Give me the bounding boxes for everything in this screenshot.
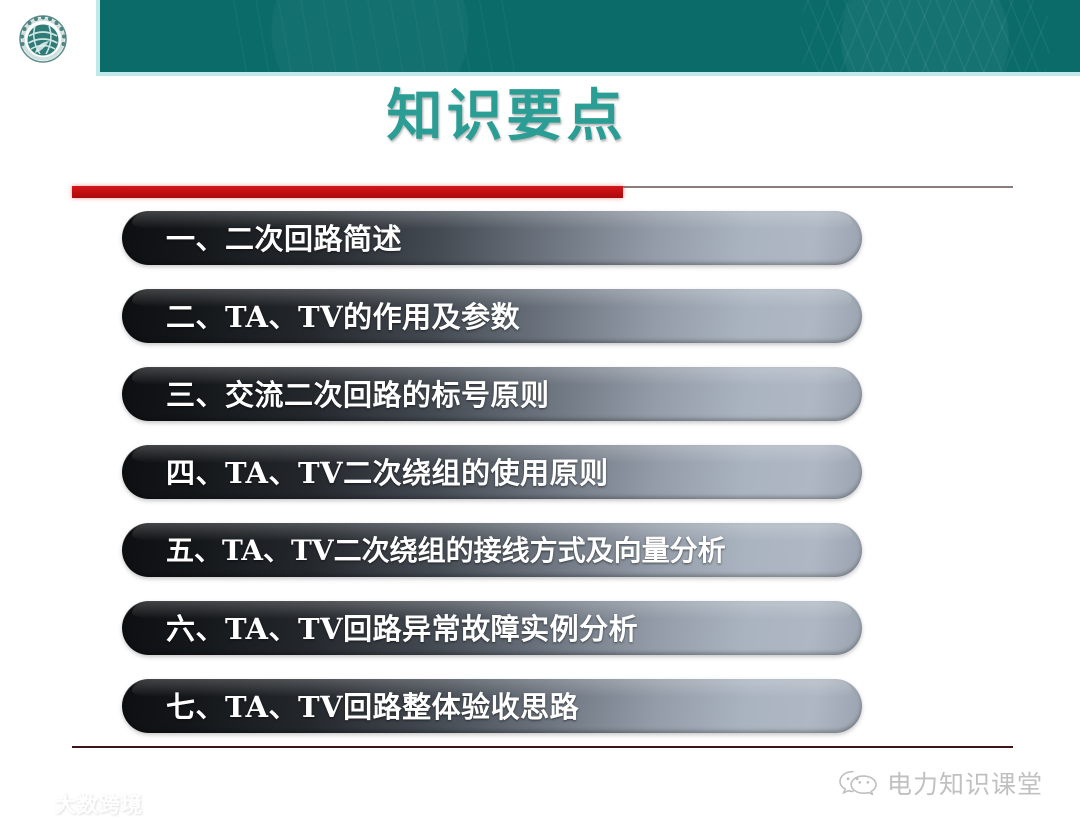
watermark-bottom-right: 电力知识课堂 [838, 765, 1043, 801]
wechat-icon [838, 768, 878, 799]
list-item[interactable]: 五、TA、TV二次绕组的接线方式及向量分析 [122, 523, 862, 577]
list-item[interactable]: 六、TA、TV回路异常故障实例分析 [122, 601, 862, 655]
page-title: 知识要点 [0, 88, 1013, 147]
list-item-label: 五、TA、TV二次绕组的接线方式及向量分析 [122, 529, 726, 571]
list-item-label: 一、二次回路简述 [122, 216, 402, 260]
globe-emblem-icon [18, 14, 68, 64]
list-item[interactable]: 七、TA、TV回路整体验收思路 [122, 679, 862, 733]
title-divider [72, 186, 1013, 198]
header-accent-edge-bottom [96, 72, 1080, 76]
outline-list: 一、二次回路简述 二、TA、TV的作用及参数 三、交流二次回路的标号原则 四、T… [122, 211, 862, 757]
slide-canvas: 知识要点 一、二次回路简述 二、TA、TV的作用及参数 三、交流二次回路的标号原… [0, 0, 1080, 828]
list-item-label: 六、TA、TV回路异常故障实例分析 [122, 606, 638, 650]
header-band [100, 0, 1080, 72]
list-item-label: 二、TA、TV的作用及参数 [122, 294, 520, 338]
list-item-label: 三、交流二次回路的标号原则 [122, 372, 550, 416]
title-divider-red-bar [72, 186, 623, 198]
dashu-paw-logo-icon [8, 790, 48, 818]
list-item[interactable]: 二、TA、TV的作用及参数 [122, 289, 862, 343]
watermark-left-text: 大数跨境 [55, 789, 143, 819]
list-item[interactable]: 三、交流二次回路的标号原则 [122, 367, 862, 421]
list-item[interactable]: 四、TA、TV二次绕组的使用原则 [122, 445, 862, 499]
watermark-right-text: 电力知识课堂 [887, 765, 1043, 801]
footer-divider [72, 746, 1013, 748]
list-item[interactable]: 一、二次回路简述 [122, 211, 862, 265]
list-item-label: 四、TA、TV二次绕组的使用原则 [122, 450, 609, 494]
list-item-label: 七、TA、TV回路整体验收思路 [122, 684, 579, 728]
watermark-bottom-left: 大数跨境 [8, 789, 143, 819]
